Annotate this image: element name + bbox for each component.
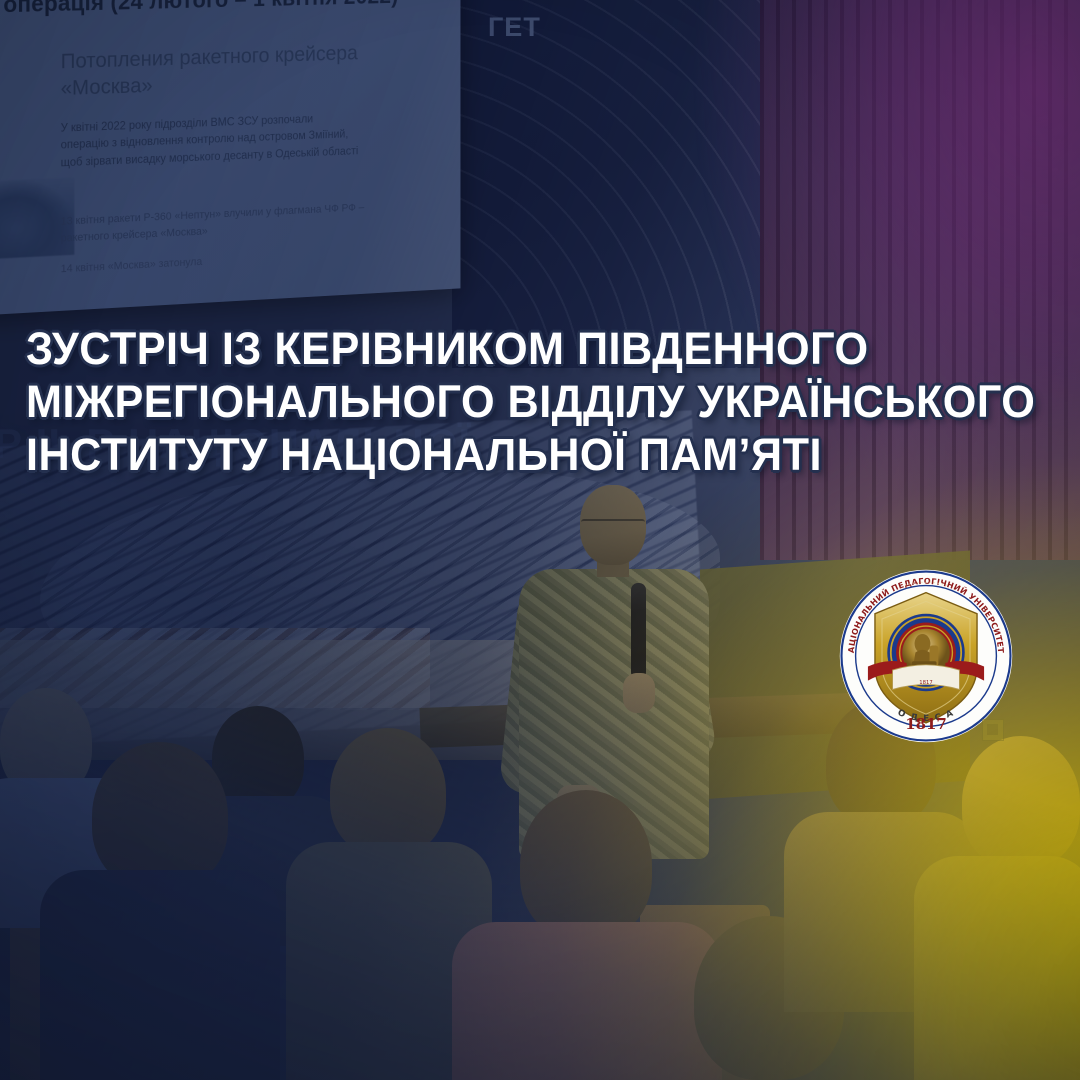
event-announcement-poster: ГЕТ а операція (24 лютого – 1 квітня 202…	[0, 0, 1080, 1080]
headline-line-2: МІЖРЕГІОНАЛЬНОГО ВІДДІЛУ УКРАЇНСЬКОГО	[26, 375, 986, 428]
university-emblem-logo: ПІВДЕННОУКРАЇНСЬКИЙ НАЦІОНАЛЬНИЙ ПЕДАГОГ…	[838, 568, 1014, 744]
emblem-year-label: 1817	[905, 715, 947, 733]
headline-line-3: ІНСТИТУТУ НАЦІОНАЛЬНОЇ ПАМ’ЯТІ	[26, 428, 986, 481]
event-photograph: ГЕТ а операція (24 лютого – 1 квітня 202…	[0, 0, 1080, 1080]
vignette-overlay	[0, 0, 1080, 1080]
corner-watermark-icon	[982, 719, 1004, 741]
svg-text:1817: 1817	[919, 680, 932, 686]
poster-headline: ЗУСТРІЧ ІЗ КЕРІВНИКОМ ПІВДЕННОГО МІЖРЕГІ…	[26, 322, 1026, 481]
headline-line-1: ЗУСТРІЧ ІЗ КЕРІВНИКОМ ПІВДЕННОГО	[26, 322, 986, 375]
